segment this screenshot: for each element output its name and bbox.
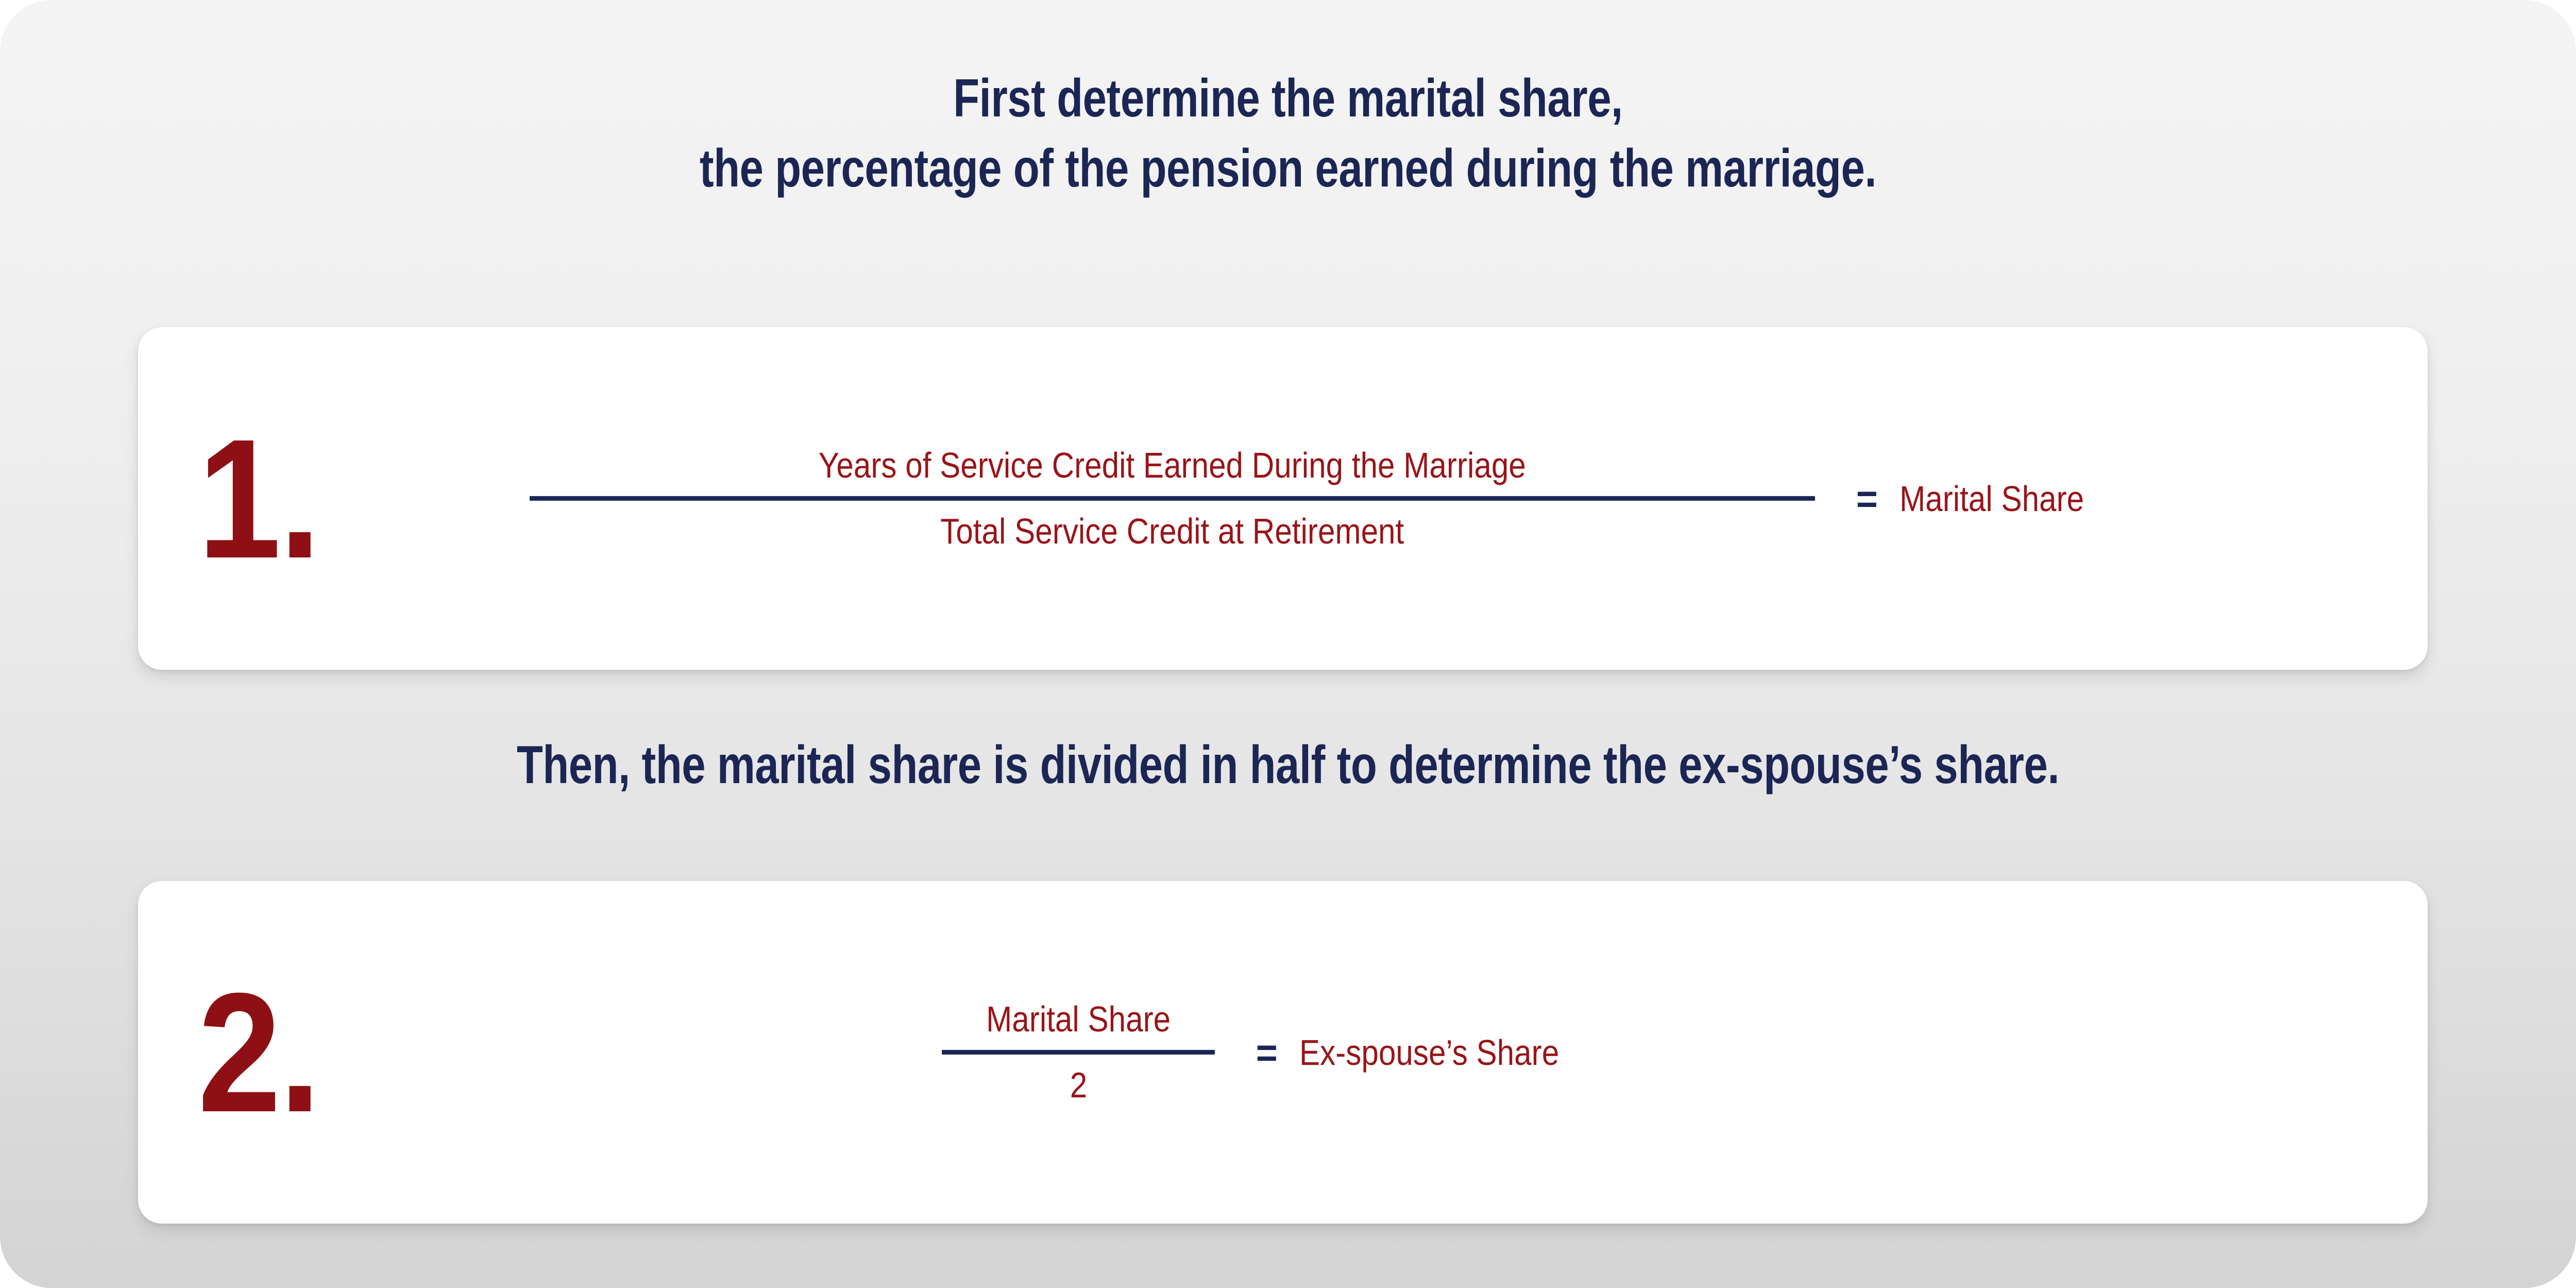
formula-1-result: Marital Share [1900, 481, 2084, 517]
heading-top: First determine the marital share, the p… [258, 71, 2318, 196]
infographic-page: First determine the marital share, the p… [0, 0, 2576, 1288]
step-card-1: 1. Years of Service Credit Earned During… [138, 327, 2428, 670]
fraction-2-bar [942, 1050, 1215, 1055]
step-card-2: 2. Marital Share 2 = Ex-spouse’s Share [138, 881, 2428, 1224]
formula-2: Marital Share 2 = Ex-spouse’s Share [942, 999, 1601, 1105]
formula-2-result: Ex-spouse’s Share [1299, 1035, 1559, 1071]
background-panel: First determine the marital share, the p… [0, 0, 2576, 1288]
equals-sign-1: = [1856, 479, 1878, 519]
fraction-2: Marital Share 2 [942, 999, 1215, 1105]
heading-middle: Then, the marital share is divided in ha… [258, 738, 2318, 792]
fraction-2-numerator: Marital Share [984, 999, 1173, 1039]
equals-sign-2: = [1256, 1032, 1278, 1073]
heading-top-line-1: First determine the marital share, [258, 71, 2318, 126]
fraction-1-numerator: Years of Service Credit Earned During th… [816, 446, 1529, 485]
fraction-1-denominator: Total Service Credit at Retirement [938, 512, 1406, 551]
fraction-1-bar [530, 496, 1815, 501]
formula-1: Years of Service Credit Earned During th… [530, 446, 2114, 551]
step-number-1: 1. [198, 431, 319, 567]
heading-top-line-2: the percentage of the pension earned dur… [258, 141, 2318, 196]
step-card-2-inner: 2. Marital Share 2 = Ex-spouse’s Share [138, 881, 2428, 1224]
step-number-2: 2. [198, 985, 319, 1121]
fraction-1: Years of Service Credit Earned During th… [530, 446, 1815, 551]
fraction-2-denominator: 2 [1067, 1066, 1090, 1105]
step-card-1-inner: 1. Years of Service Credit Earned During… [138, 327, 2428, 670]
